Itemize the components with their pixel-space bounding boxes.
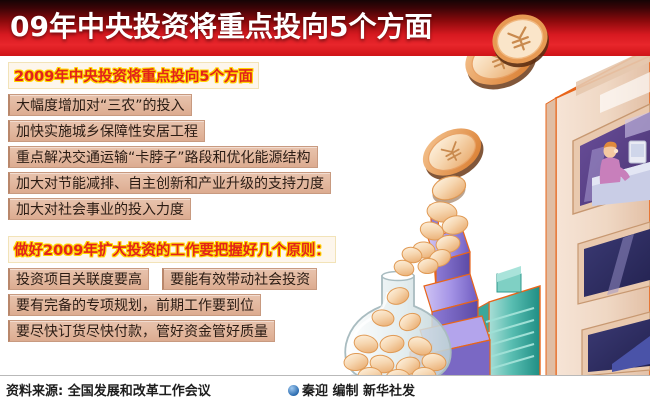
list-item: 要尽快订货尽快付款，管好资金管好质量: [8, 320, 275, 342]
list-investment-principles: 投资项目关联度要高 要能有效带动社会投资 要有完备的专项规划，前期工作要到位 要…: [0, 266, 400, 344]
credit-label: 秦迎 编制 新华社发: [302, 384, 415, 399]
section-heading-investment-principles: 做好2009年扩大投资的工作要把握好几个原则：: [8, 236, 336, 263]
teal-highrise: [478, 266, 540, 382]
credit-block: 秦迎 编制 新华社发: [288, 380, 415, 399]
list-item: 要能有效带动社会投资: [162, 268, 317, 290]
list-item: 投资项目关联度要高: [8, 268, 149, 290]
office-building-with-worker: [546, 48, 650, 376]
blue-window-panels: [578, 222, 650, 376]
title-bar: 09年中央投资将重点投向5个方面: [0, 0, 650, 56]
list-item: 要有完备的专项规划，前期工作要到位: [8, 294, 261, 316]
list-item: 加大对节能减排、自主创新和产业升级的支持力度: [8, 172, 331, 194]
list-item: 加快实施城乡保障性安居工程: [8, 120, 205, 142]
xinhua-globe-icon: [288, 385, 299, 396]
page-title: 09年中央投资将重点投向5个方面: [10, 5, 432, 49]
footer-bar: 资料来源: 全国发展和改革工作会议 秦迎 编制 新华社发: [0, 375, 650, 402]
list-item: 大幅度增加对“三农”的投入: [8, 94, 192, 116]
purple-pagoda-tower: [420, 204, 490, 382]
list-item: 加大对社会事业的投入力度: [8, 198, 191, 220]
infographic-poster: 09年中央投资将重点投向5个方面 2009年中央投资将重点投向5个方面 大幅度增…: [0, 0, 650, 402]
office-window-worker: [573, 104, 650, 214]
content-column: 2009年中央投资将重点投向5个方面 大幅度增加对“三农”的投入 加快实施城乡保…: [0, 56, 400, 372]
section-heading-investment-areas: 2009年中央投资将重点投向5个方面: [8, 62, 259, 89]
list-item: 重点解决交通运输“卡脖子”路段和优化能源结构: [8, 146, 318, 168]
source-label: 资料来源: 全国发展和改革工作会议: [6, 380, 211, 399]
section-spacer: [0, 222, 400, 230]
list-investment-areas: 大幅度增加对“三农”的投入 加快实施城乡保障性安居工程 重点解决交通运输“卡脖子…: [0, 92, 400, 222]
yuan-coin-icon: [489, 8, 551, 70]
